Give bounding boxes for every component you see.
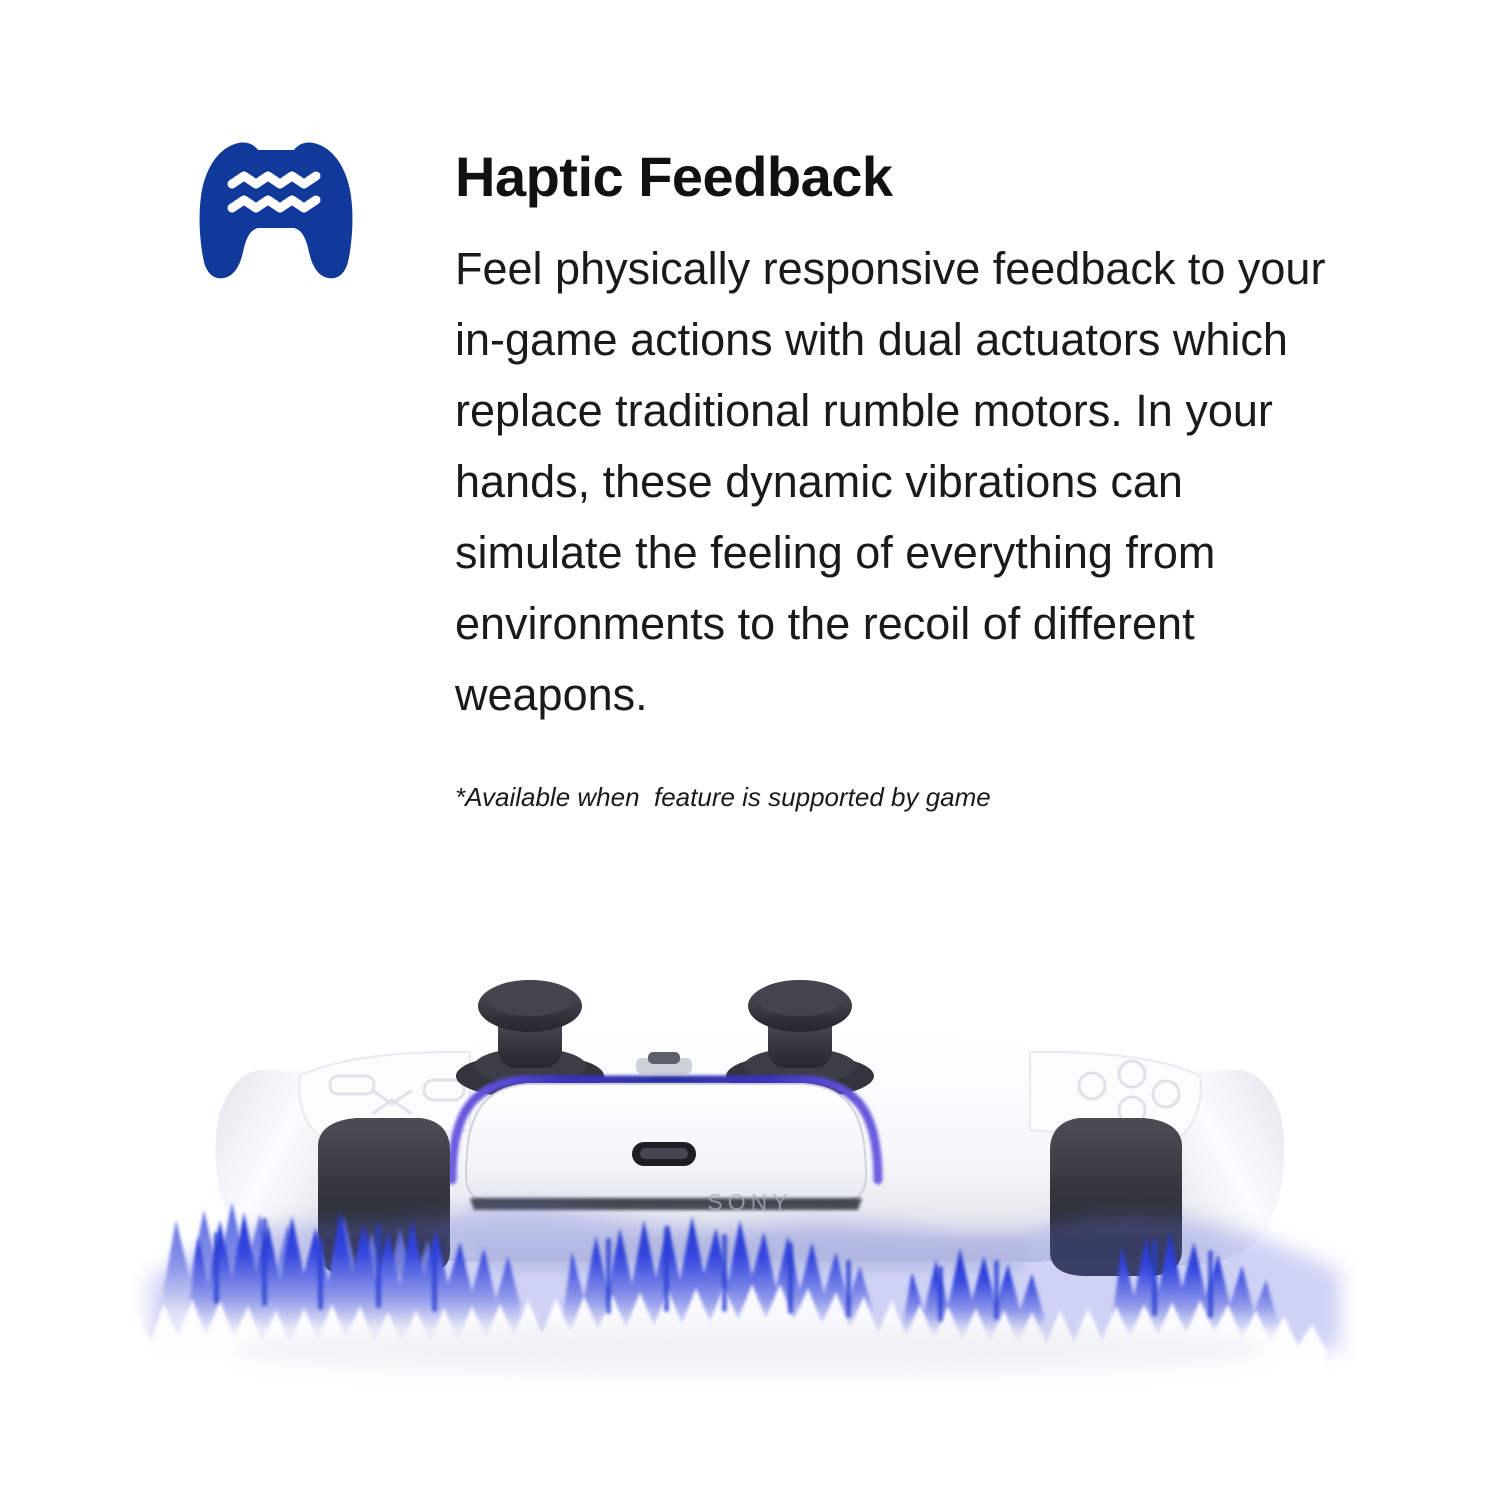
page-title: Haptic Feedback [455,148,1360,207]
sony-brand-mark: SONY [707,1189,792,1215]
feature-text-column: Haptic Feedback Feel physically responsi… [455,148,1360,813]
gamepad-haptic-waves-icon [196,140,356,280]
feature-footnote: *Available when feature is supported by … [455,782,1360,813]
feature-description: Feel physically responsive feedback to y… [455,233,1355,730]
feature-block: Haptic Feedback Feel physically responsi… [0,0,1500,880]
dualsense-controller-image: SONY [0,880,1500,1500]
haptic-feedback-feature-card: Haptic Feedback Feel physically responsi… [0,0,1500,1500]
usb-c-port [632,1142,696,1166]
